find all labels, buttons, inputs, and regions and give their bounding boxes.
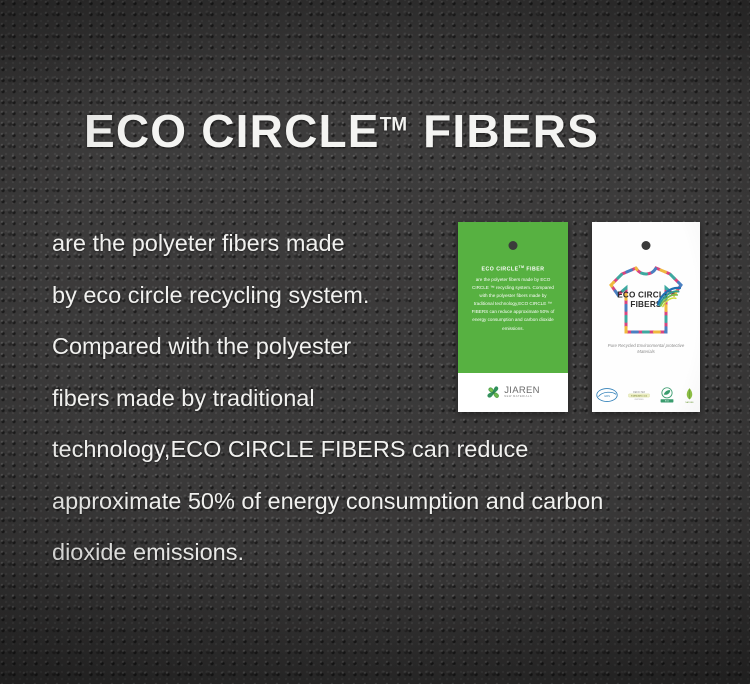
jiaren-brand-name: JIAREN [504,386,540,396]
svg-text:CERTIFIED: CERTIFIED [634,399,644,401]
jiaren-brand-subtitle: NEW MATERIALS [504,396,540,399]
green-tag-trademark: TM [519,265,525,269]
green-leaf-badge: NATURE [683,387,696,404]
eco-circle-fibers-logo: ECO CIRCLETM FIBERS [592,289,700,310]
green-tag-footer: JIAREN NEW MATERIALS [458,373,568,412]
global-recycled-standard-badge: GRS [596,388,618,402]
leaf-certification-badge: ECO [660,387,674,403]
jiaren-wordmark: JIAREN NEW MATERIALS [504,386,540,399]
svg-text:NATURE: NATURE [685,400,694,403]
tag-hole-punch [642,241,651,250]
jiaren-floral-logo-icon [486,385,501,400]
trademark-symbol: TM [380,115,407,136]
white-tag-tagline: Pure Recycled Environmental protective M… [601,343,691,356]
paragraph-line: approximate 50% of energy consumption an… [52,476,712,528]
green-hang-tag-image: ECO CIRCLETM FIBER are the polyeter fibe… [458,222,568,412]
green-tag-title-suffix: FIBER [526,267,544,273]
green-tag-title-text: ECO CIRCLE [482,267,519,273]
svg-text:ECO: ECO [665,401,670,403]
page-title-part2: FIBERS [423,105,599,157]
paragraph-line: technology,ECO CIRCLE FIBERS can reduce [52,424,712,476]
green-tag-panel: ECO CIRCLETM FIBER are the polyeter fibe… [458,222,568,373]
product-banner: ECO CIRCLETMFIBERS are the polyeter fibe… [0,0,750,684]
white-hang-tag-image: ECO CIRCLETM FIBERS Pure Recycled Enviro… [592,222,700,412]
tag-hole-punch [509,241,518,250]
oeko-tex-badge: OEKO-TEX STANDARD 100 CERTIFIED [627,389,651,402]
page-title-part1: ECO CIRCLE [84,105,380,157]
svg-text:GRS: GRS [604,394,610,398]
page-title: ECO CIRCLETMFIBERS [84,104,599,158]
svg-text:OEKO-TEX: OEKO-TEX [633,390,646,393]
green-tag-paragraph: are the polyeter fibers made by ECO CIRC… [469,276,557,333]
white-tag-logo-line2: FIBERS [592,300,700,309]
certification-badges: GRS OEKO-TEX STANDARD 100 CERTIFIED ECO [596,382,696,408]
circular-swoosh-icon [655,284,683,310]
paragraph-line: dioxide emissions. [52,527,712,579]
green-tag-title: ECO CIRCLETM FIBER [458,265,568,273]
